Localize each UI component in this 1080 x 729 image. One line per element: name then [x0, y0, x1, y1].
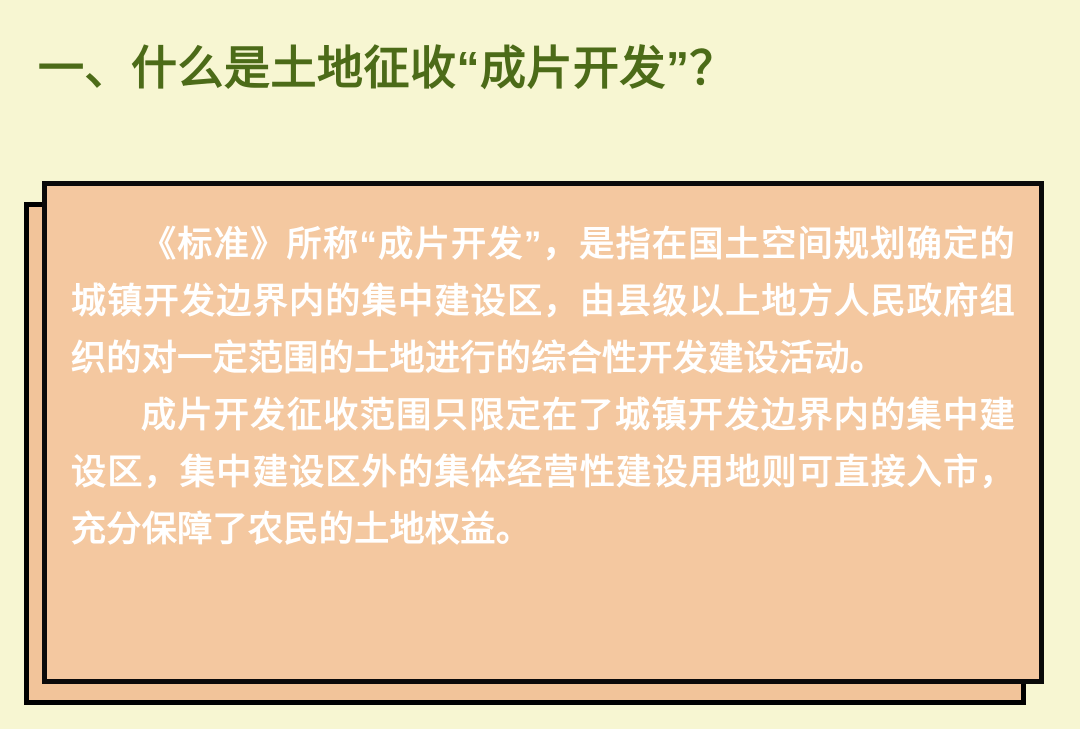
- page-title: 一、什么是土地征收“成片开发”？: [38, 36, 1038, 102]
- paragraph-scope: 成片开发征收范围只限定在了城镇开发边界内的集中建设区，集中建设区外的集体经营性建…: [71, 387, 1015, 558]
- poster-canvas: 一、什么是土地征收“成片开发”？ 《标准》所称“成片开发”，是指在国土空间规划确…: [0, 0, 1080, 729]
- card-body: 《标准》所称“成片开发”，是指在国土空间规划确定的城镇开发边界内的集中建设区，由…: [47, 186, 1039, 679]
- page-title-text: 一、什么是土地征收“成片开发”？: [38, 43, 736, 95]
- content-card: 《标准》所称“成片开发”，是指在国土空间规划确定的城镇开发边界内的集中建设区，由…: [24, 181, 1046, 707]
- paragraph-definition: 《标准》所称“成片开发”，是指在国土空间规划确定的城镇开发边界内的集中建设区，由…: [71, 216, 1015, 387]
- card-frame-front: 《标准》所称“成片开发”，是指在国土空间规划确定的城镇开发边界内的集中建设区，由…: [42, 181, 1044, 684]
